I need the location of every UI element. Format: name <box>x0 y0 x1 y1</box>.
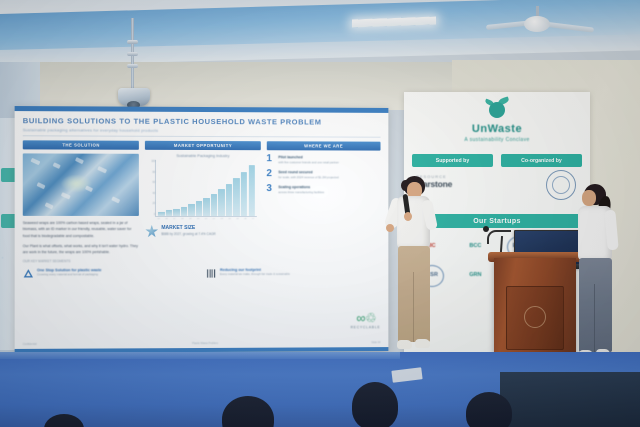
chart-bar <box>173 209 179 216</box>
list-sub: for scale, with 2024 revenue of $1.2M pr… <box>278 175 338 180</box>
feature-footprint: Reducing our footprint Every material we… <box>206 268 381 279</box>
event-tagline: A sustainability Conclave <box>404 137 590 143</box>
list-sub: with five customer brands and one retail… <box>278 160 338 165</box>
chart-bar <box>211 194 217 216</box>
slide-column-where: WHERE WE ARE 1 Pilot launched with five … <box>266 141 380 255</box>
audience-head <box>352 382 398 427</box>
person2-jeans <box>579 258 612 352</box>
x-tick: 26 <box>242 218 249 220</box>
footer-left: Confidential <box>23 343 37 346</box>
projector-rod-ring <box>127 52 138 56</box>
column-heading-market: MARKET OPPORTUNITY <box>145 141 260 150</box>
feature-row: One Stop Solution for plastic waste Cove… <box>23 268 381 280</box>
list-number: 2 <box>266 170 275 178</box>
x-tick: 16 <box>163 218 170 220</box>
milestone-list: 1 Pilot launched with five customer bran… <box>266 155 380 195</box>
list-sub: across three manufacturing facilities <box>278 190 324 195</box>
chart-bar <box>226 184 232 216</box>
solution-paragraph-2: Our Plant is what offsets, what works, a… <box>23 243 139 256</box>
barcode-icon <box>206 268 217 279</box>
slide-divider <box>23 135 381 137</box>
y-tick: 80 <box>147 170 155 173</box>
market-size-kpi: MARKET SIZE $68B by 2027, growing at 7.4… <box>145 225 260 238</box>
recyclable-label: RECYCLABLE <box>351 325 381 329</box>
column-heading-where: WHERE WE ARE <box>266 141 380 150</box>
plastic-waste-photo <box>23 153 139 216</box>
badge-co-organized-by: Co-organized by <box>501 154 582 167</box>
list-title: Scaling operations <box>278 185 324 189</box>
chart-bar <box>166 210 172 216</box>
chart-caption: Sustainable Packaging Industry <box>145 154 260 158</box>
person2-face <box>582 190 596 206</box>
y-tick: 100 <box>147 160 155 163</box>
event-logo: UnWaste A sustainability Conclave <box>404 98 590 143</box>
slide-title: BUILDING SOLUTIONS TO THE PLASTIC HOUSEH… <box>23 116 381 127</box>
market-growth-bar-chart: 100 80 60 40 20 0 <box>155 160 256 217</box>
solution-paragraph-1: Seaweed wraps are 100% carbon based wrap… <box>23 220 139 239</box>
chart-bar <box>158 212 164 216</box>
chart-bar <box>188 204 194 216</box>
footer-center: Plastic Waste Problem <box>192 342 218 345</box>
x-tick: 24 <box>226 218 233 220</box>
conference-room-photo: · BUILDING SOLUTIONS TO THE PLASTIC HOUS… <box>0 0 640 427</box>
speaker-shoe-left <box>397 340 412 349</box>
event-logo-name: UnWaste <box>404 123 590 135</box>
kpi-subtitle: $68B by 2027, growing at 7.4% CAGR <box>161 232 215 236</box>
jeans-seam <box>594 284 595 352</box>
chart-bar <box>248 165 254 216</box>
person2-right-arm <box>604 210 618 251</box>
list-title: Seed round secured <box>278 170 338 174</box>
list-number: 1 <box>266 155 275 164</box>
speaker-shoe-right <box>415 339 430 348</box>
floor-light-strip <box>0 352 400 359</box>
x-tick: 15 <box>155 218 162 220</box>
x-tick: 23 <box>218 218 225 220</box>
audience-head <box>466 392 512 427</box>
list-item: 1 Pilot launched with five customer bran… <box>266 155 380 165</box>
feature-sub: Every material we make, through fair tra… <box>220 272 290 277</box>
pants-seam <box>413 272 414 342</box>
slide-content: BUILDING SOLUTIONS TO THE PLASTIC HOUSEH… <box>15 111 389 353</box>
badge-supported-by: Supported by <box>412 154 493 167</box>
chart-bars <box>158 160 254 216</box>
y-tick: 0 <box>147 213 155 216</box>
chart-bar <box>196 201 202 216</box>
chart-y-axis: 100 80 60 40 20 0 <box>147 160 155 216</box>
y-tick: 60 <box>147 181 155 184</box>
list-item: 3 Scaling operations across three manufa… <box>266 185 380 195</box>
y-tick: 20 <box>147 202 155 205</box>
x-tick: 21 <box>203 218 210 220</box>
feature-sub: Covering every material and format of pa… <box>37 273 102 278</box>
startup-logo: GRN <box>464 266 486 286</box>
features-heading: OUR KEY MARKET SEGMENTS <box>23 259 381 263</box>
chart-bar <box>203 198 209 216</box>
list-item: 2 Seed round secured for scale, with 202… <box>266 170 380 180</box>
slide-column-solution: THE SOLUTION Seaweed wraps are 100% carb… <box>23 140 139 255</box>
floor-shadow-area <box>500 372 640 427</box>
startup-logo: BCC <box>464 237 486 257</box>
microphone-gooseneck <box>487 230 511 244</box>
x-tick: 17 <box>171 218 178 220</box>
slide-subtitle: Sustainable packaging alternatives for e… <box>23 127 381 134</box>
projector-rod-ring <box>127 64 138 68</box>
x-tick: 27 <box>250 218 257 220</box>
recycle-bag-icon <box>23 269 34 280</box>
slide-column-market: MARKET OPPORTUNITY Sustainable Packaging… <box>145 141 260 256</box>
x-tick: 18 <box>179 218 186 220</box>
x-tick: 20 <box>195 218 202 220</box>
chart-bar <box>241 172 247 216</box>
speaker-right-hand <box>404 212 412 221</box>
star-badge-icon <box>145 225 158 238</box>
slide-footer: Confidential Plastic Waste Problem Slide… <box>23 341 381 346</box>
y-tick: 40 <box>147 192 155 195</box>
podium-seal-icon <box>524 306 546 328</box>
chart-bar <box>233 178 239 216</box>
x-tick: 22 <box>211 218 218 220</box>
infinity-recycle-icon: ∞ ♲ <box>351 311 381 324</box>
chart-x-axis: 15161718192021222324252627 <box>155 218 256 220</box>
chart-bar <box>218 189 224 216</box>
x-tick: 25 <box>234 218 241 220</box>
microphone-head-icon <box>483 226 489 232</box>
chart-bar <box>181 207 187 216</box>
footer-right: Slide 04 <box>371 341 380 344</box>
kpi-title: MARKET SIZE <box>161 225 215 231</box>
sponsor-badges: Supported by Co-organized by <box>412 154 582 167</box>
x-tick: 19 <box>187 218 194 220</box>
speaker-left-hand <box>386 224 394 232</box>
list-number: 3 <box>266 185 275 193</box>
column-heading-solution: THE SOLUTION <box>23 140 139 149</box>
leaf-logo-icon <box>484 98 510 122</box>
projection-screen: BUILDING SOLUTIONS TO THE PLASTIC HOUSEH… <box>15 106 389 353</box>
feature-one-stop: One Stop Solution for plastic waste Cove… <box>23 268 200 279</box>
projector-rod-ring <box>127 40 138 44</box>
ceiling-fan-hub <box>524 16 550 32</box>
slide-columns: THE SOLUTION Seaweed wraps are 100% carb… <box>23 140 381 255</box>
list-title: Pilot launched <box>278 155 338 159</box>
recyclable-badge: ∞ ♲ RECYCLABLE <box>351 311 381 329</box>
